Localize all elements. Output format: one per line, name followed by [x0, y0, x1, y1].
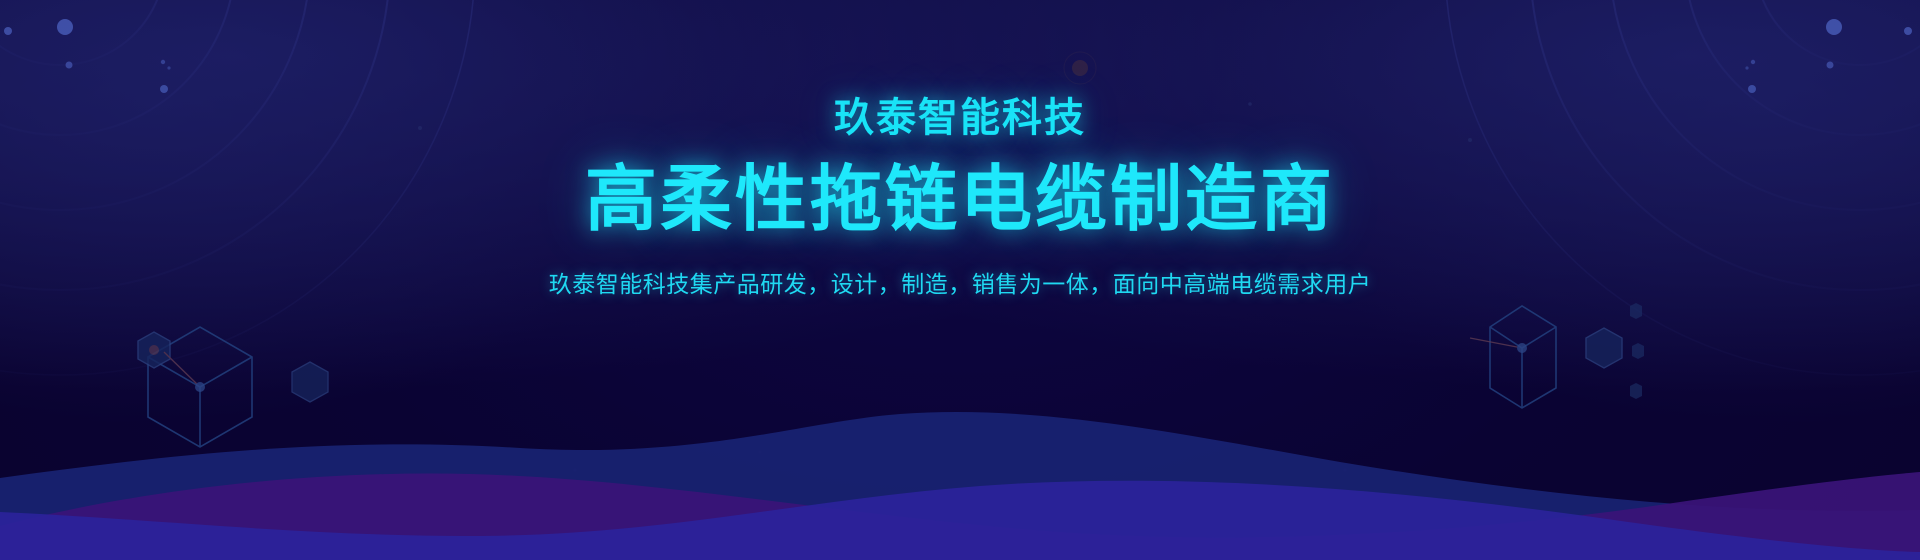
- hero-banner: 玖泰智能科技 高柔性拖链电缆制造商 玖泰智能科技集产品研发，设计，制造，销售为一…: [0, 0, 1920, 560]
- hero-content: 玖泰智能科技 高柔性拖链电缆制造商 玖泰智能科技集产品研发，设计，制造，销售为一…: [0, 0, 1920, 560]
- hero-eyebrow: 玖泰智能科技: [834, 98, 1086, 138]
- hero-headline: 高柔性拖链电缆制造商: [585, 162, 1335, 238]
- hero-subtitle: 玖泰智能科技集产品研发，设计，制造，销售为一体，面向中高端电缆需求用户: [549, 268, 1372, 300]
